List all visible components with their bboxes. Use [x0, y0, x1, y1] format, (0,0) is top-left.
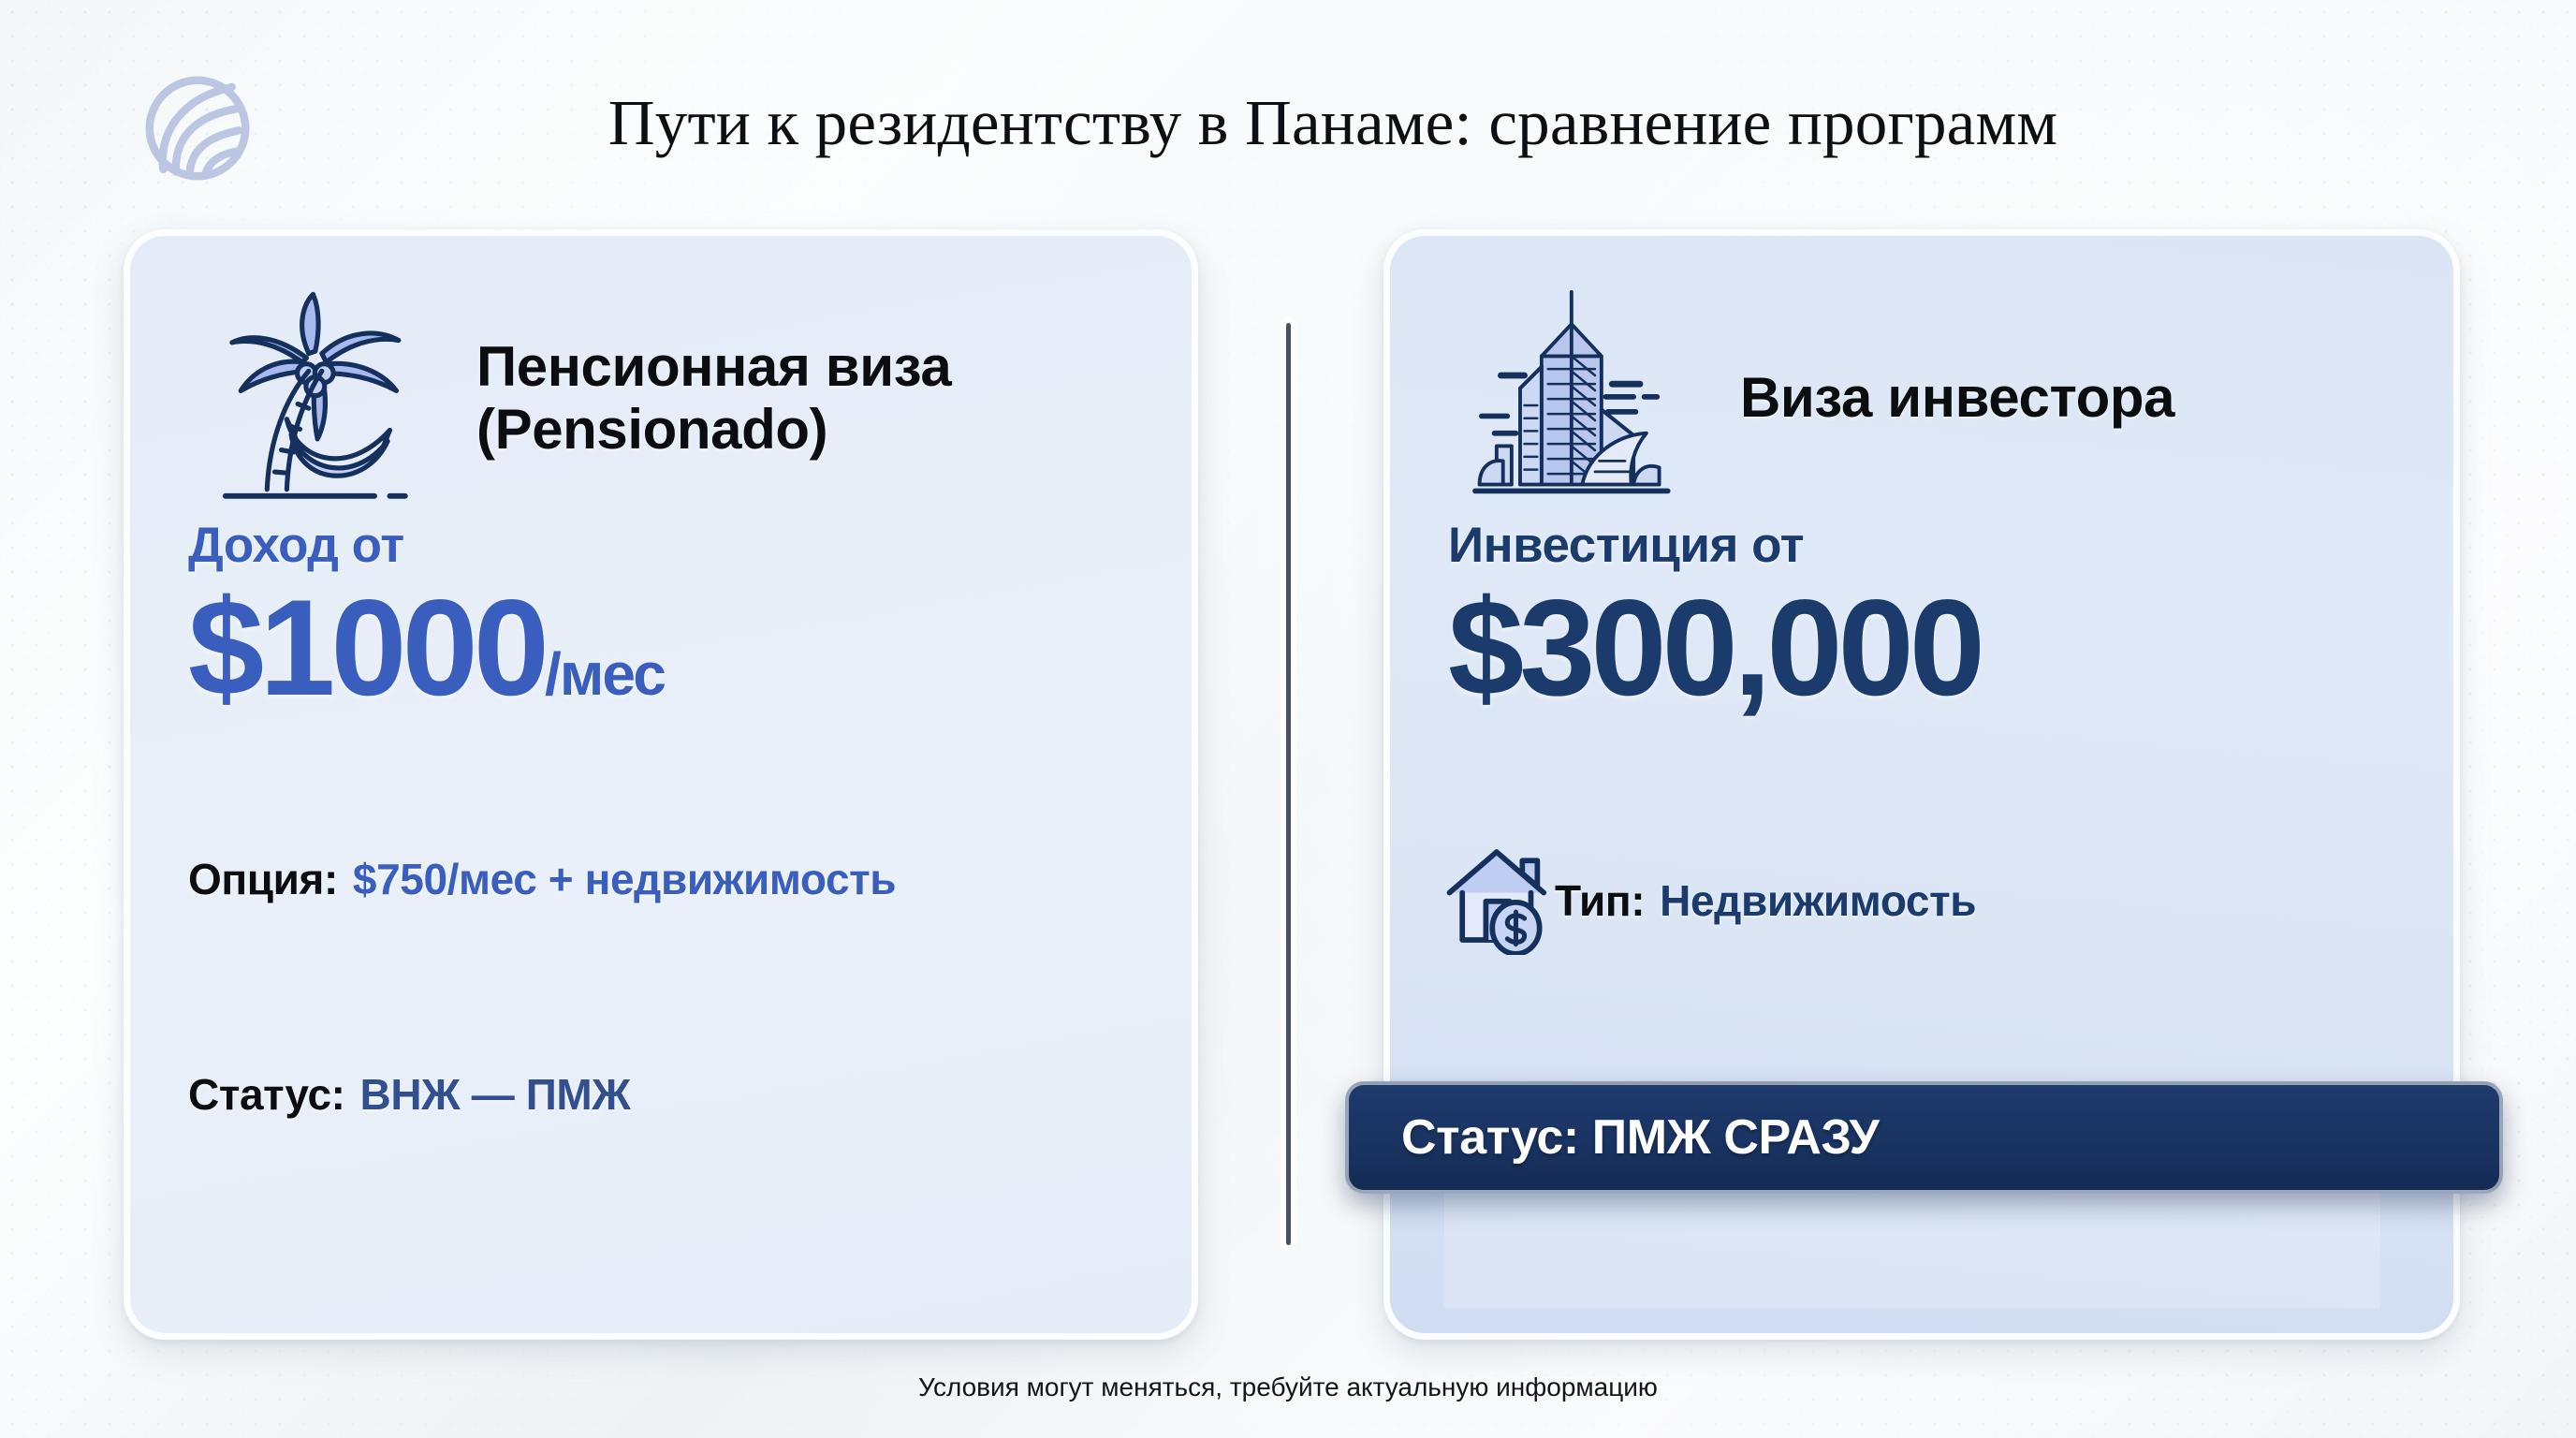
footer-disclaimer: Условия могут меняться, требуйте актуаль… [0, 1372, 2576, 1402]
column-divider [1286, 323, 1291, 1245]
investor-header: Виза инвестора [1444, 281, 2427, 515]
palm-tree-hammock-icon [190, 286, 443, 510]
city-skyline-icon [1472, 286, 1688, 510]
pensionado-title: Пенсионная виза (Pensionado) [476, 335, 951, 461]
page-title: Пути к резидентству в Панаме: сравнение … [0, 86, 2576, 160]
pensionado-option-row: Опция: $750/мес + недвижимость [188, 854, 896, 904]
pensionado-amount-label: Доход от [188, 517, 665, 574]
infographic-canvas: Пути к резидентству в Панаме: сравнение … [0, 0, 2576, 1438]
pensionado-option-key: Опция: [188, 854, 338, 904]
investor-status-banner[interactable]: Статус: ПМЖ СРАЗУ [1345, 1081, 2503, 1194]
pensionado-amount-unit: /мес [545, 640, 665, 708]
investor-status-banner-text: Статус: ПМЖ СРАЗУ [1401, 1109, 1880, 1166]
house-with-dollar-coin-icon [1439, 837, 1557, 955]
pensionado-amount-number: $1000 [188, 571, 545, 724]
investor-amount-label: Инвестиция от [1448, 517, 1981, 574]
investor-title: Виза инвестора [1740, 366, 2174, 429]
pensionado-status-row: Статус: ВНЖ — ПМЖ [188, 1069, 630, 1120]
pensionado-amount-value: $1000/мес [188, 580, 665, 716]
investor-amount-value: $300,000 [1448, 580, 1981, 716]
investor-amount-block: Инвестиция от $300,000 [1448, 517, 1981, 716]
pensionado-title-line1: Пенсионная виза [476, 335, 951, 398]
pensionado-header: Пенсионная виза (Pensionado) [184, 281, 1167, 515]
investor-type-key: Тип: [1555, 875, 1645, 926]
card-pensionado[interactable]: Пенсионная виза (Pensionado) Доход от $1… [124, 229, 1198, 1340]
investor-type-row: Тип: Недвижимость [1555, 854, 1976, 947]
investor-amount-number: $300,000 [1448, 571, 1981, 724]
pensionado-option-value: $750/мес + недвижимость [353, 854, 896, 904]
pensionado-amount-block: Доход от $1000/мес [188, 517, 665, 716]
pensionado-title-line2: (Pensionado) [476, 398, 951, 461]
pensionado-status-value: ВНЖ — ПМЖ [360, 1069, 631, 1120]
investor-type-value: Недвижимость [1660, 875, 1976, 926]
pensionado-status-key: Статус: [188, 1069, 345, 1120]
